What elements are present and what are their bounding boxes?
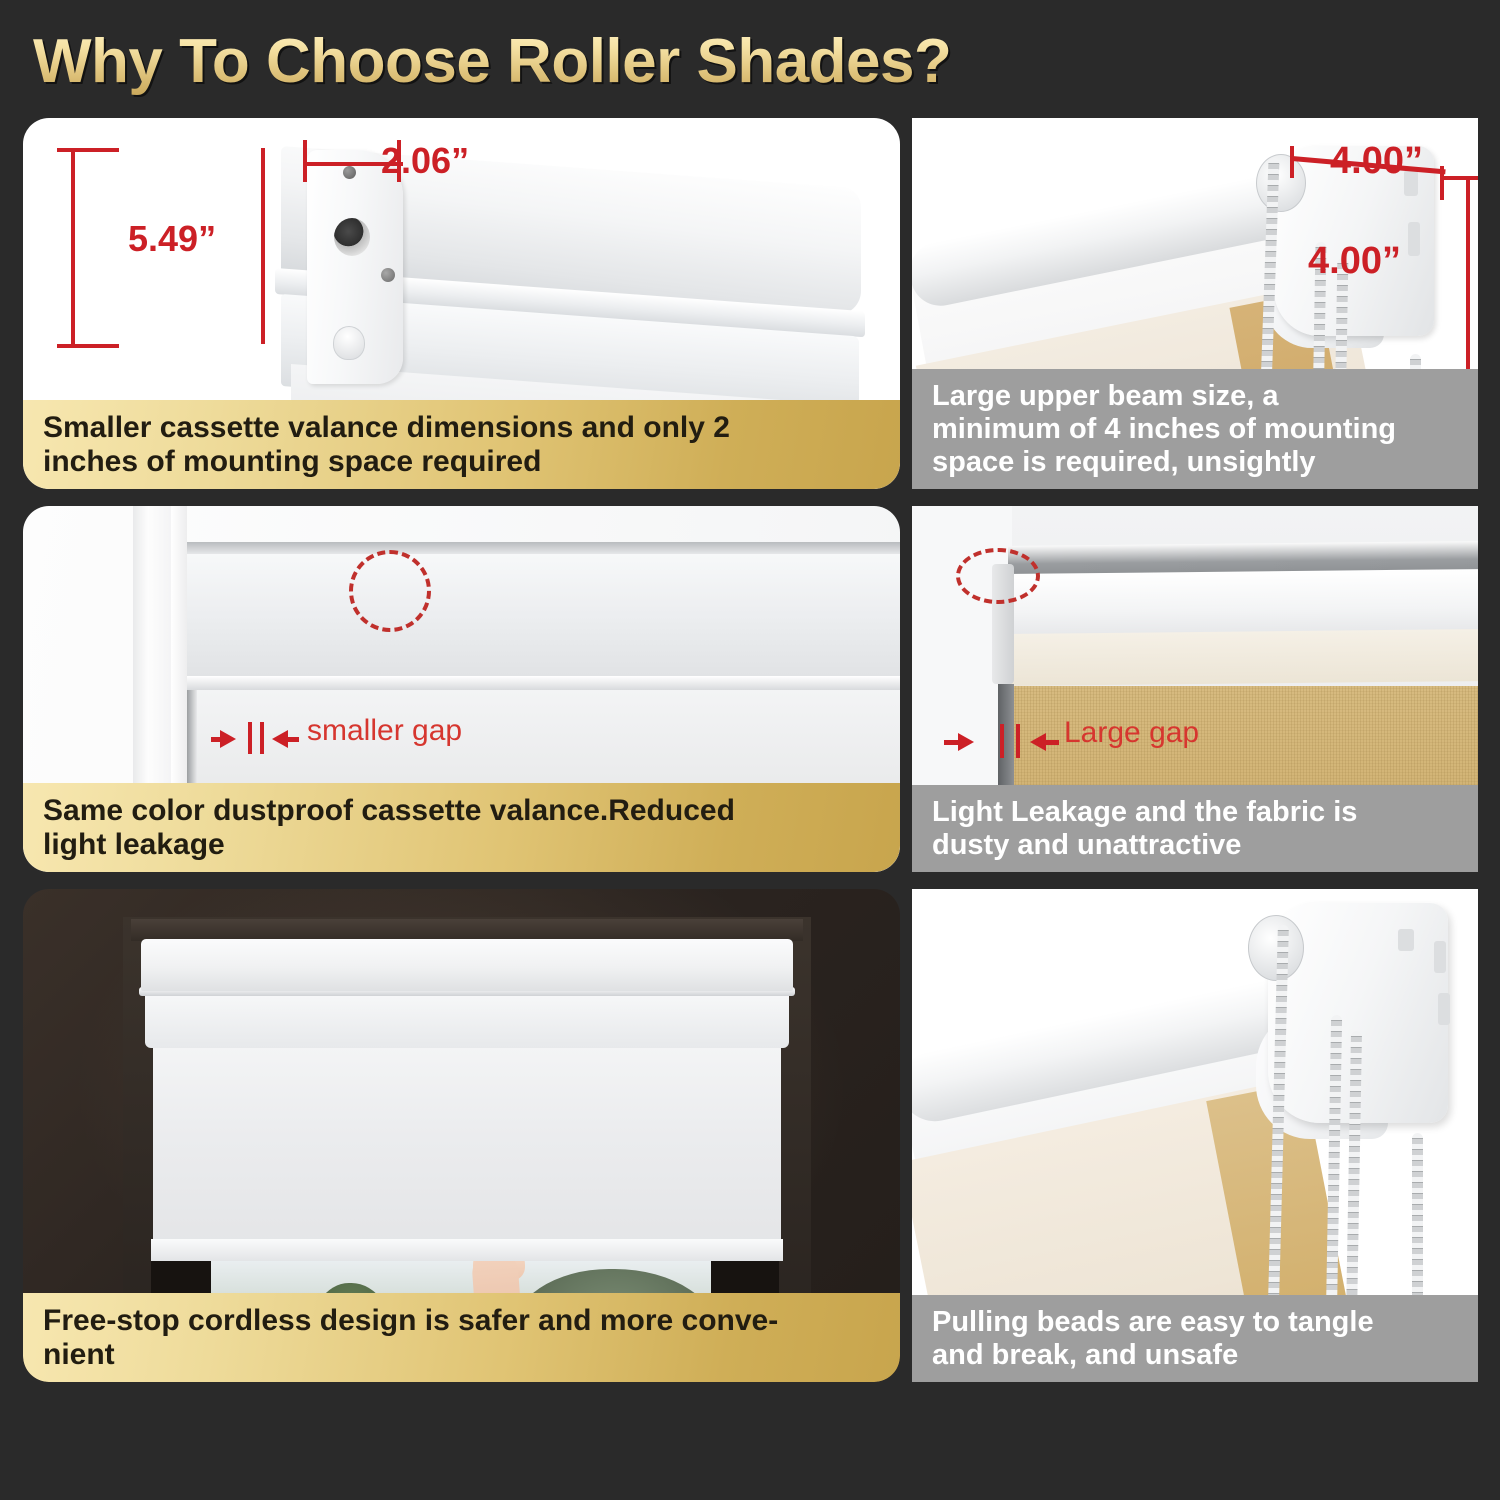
height-dim-leader xyxy=(261,148,265,344)
panel-pro-cassette-dimensions: 5.49” 2.06” Smaller cassette valance dim… xyxy=(23,118,900,489)
caption-line: nient xyxy=(43,1338,884,1372)
tilt-knob xyxy=(334,218,370,256)
caption-con-pulling-beads: Pulling beads are easy to tangle and bre… xyxy=(912,1295,1478,1382)
page-title: Why To Choose Roller Shades? xyxy=(33,26,951,97)
beam-height-label: 4.00” xyxy=(1308,240,1401,283)
height-dimension-label: 5.49” xyxy=(128,218,216,260)
caption-line: inches of mounting space required xyxy=(43,445,884,479)
mounting-clip xyxy=(333,326,365,360)
roller-shade-fabric xyxy=(153,1047,781,1247)
gap-arrow-stem xyxy=(1045,740,1059,745)
panel-pro-cordless-design: Free-stop cordless design is safer and m… xyxy=(23,889,900,1382)
height-dim-top-tick xyxy=(57,148,119,152)
caption-pro-cordless-design: Free-stop cordless design is safer and m… xyxy=(23,1293,900,1382)
valance-lower xyxy=(145,996,789,1048)
caption-line: and break, and unsafe xyxy=(932,1339,1462,1372)
caption-line: Pulling beads are easy to tangle xyxy=(932,1306,1462,1339)
highlight-circle xyxy=(349,550,431,632)
window-recess-header xyxy=(131,919,803,941)
gap-edge-tick xyxy=(1000,724,1004,758)
gap-arrow-stem xyxy=(944,740,960,745)
caption-line: Free-stop cordless design is safer and m… xyxy=(43,1304,884,1338)
panel-pro-smaller-gap: smaller gap Same color dustproof cassett… xyxy=(23,506,900,872)
gap-edge-tick xyxy=(1016,724,1020,758)
bracket-slot xyxy=(1408,222,1420,256)
caption-line: light leakage xyxy=(43,828,884,862)
cassette-valance xyxy=(141,939,793,991)
gap-edge-tick xyxy=(248,722,252,754)
beam-width-right-tick xyxy=(1440,166,1444,200)
white-headrail xyxy=(1008,569,1478,638)
beam-height-top-tick xyxy=(1440,176,1478,180)
beam-width-left-tick xyxy=(1290,146,1294,178)
panel-con-large-gap: Large gap Light Leakage and the fabric i… xyxy=(912,506,1478,872)
highlight-circle xyxy=(956,548,1040,604)
gap-callout-label: smaller gap xyxy=(307,714,462,748)
height-dim-line xyxy=(71,148,75,348)
gap-edge-tick xyxy=(260,722,264,754)
caption-con-large-upper-beam: Large upper beam size, a minimum of 4 in… xyxy=(912,369,1478,489)
gap-arrow-stem xyxy=(211,737,223,742)
gap-arrow-right xyxy=(958,733,974,751)
gap-callout-label: Large gap xyxy=(1064,716,1199,750)
caption-line: Large upper beam size, a xyxy=(932,380,1462,413)
caption-line: dusty and unattractive xyxy=(932,829,1462,862)
height-dim-bottom-tick xyxy=(57,344,119,348)
caption-pro-cassette-dimensions: Smaller cassette valance dimensions and … xyxy=(23,400,900,489)
caption-line: Smaller cassette valance dimensions and … xyxy=(43,411,884,445)
headrail-top-edge xyxy=(187,542,900,554)
panel-con-large-upper-beam: 4.00” 4.00” Large upper beam size, a min… xyxy=(912,118,1478,489)
panel-con-pulling-beads: Pulling beads are easy to tangle and bre… xyxy=(912,889,1478,1382)
caption-con-large-gap: Light Leakage and the fabric is dusty an… xyxy=(912,785,1478,872)
caption-line: Same color dustproof cassette valance.Re… xyxy=(43,794,884,828)
caption-pro-smaller-gap: Same color dustproof cassette valance.Re… xyxy=(23,783,900,872)
width-dimension-label: 2.06” xyxy=(381,140,469,182)
beam-width-label: 4.00” xyxy=(1330,140,1423,183)
width-dim-left-tick xyxy=(303,140,307,182)
gap-arrow-left xyxy=(1030,733,1046,751)
roller-end-disc xyxy=(1256,154,1306,212)
screw-icon xyxy=(343,166,356,179)
caption-line: space is required, unsightly xyxy=(932,446,1462,479)
gap-arrow-stem xyxy=(287,737,299,742)
cream-valance-band xyxy=(1008,629,1478,686)
bracket-slot xyxy=(1434,941,1446,973)
cassette-valance xyxy=(187,554,900,676)
gap-arrow-left xyxy=(272,730,288,748)
beam-height-line xyxy=(1466,176,1470,374)
title-bar: Why To Choose Roller Shades? Why To Choo… xyxy=(0,0,1500,112)
screw-icon xyxy=(381,268,395,282)
caption-line: minimum of 4 inches of mounting xyxy=(932,413,1462,446)
valance-bottom-rail xyxy=(187,676,900,690)
hem-bar xyxy=(151,1239,783,1261)
bracket-slot xyxy=(1438,993,1450,1025)
caption-line: Light Leakage and the fabric is xyxy=(932,796,1462,829)
bracket-slot xyxy=(1398,929,1414,951)
